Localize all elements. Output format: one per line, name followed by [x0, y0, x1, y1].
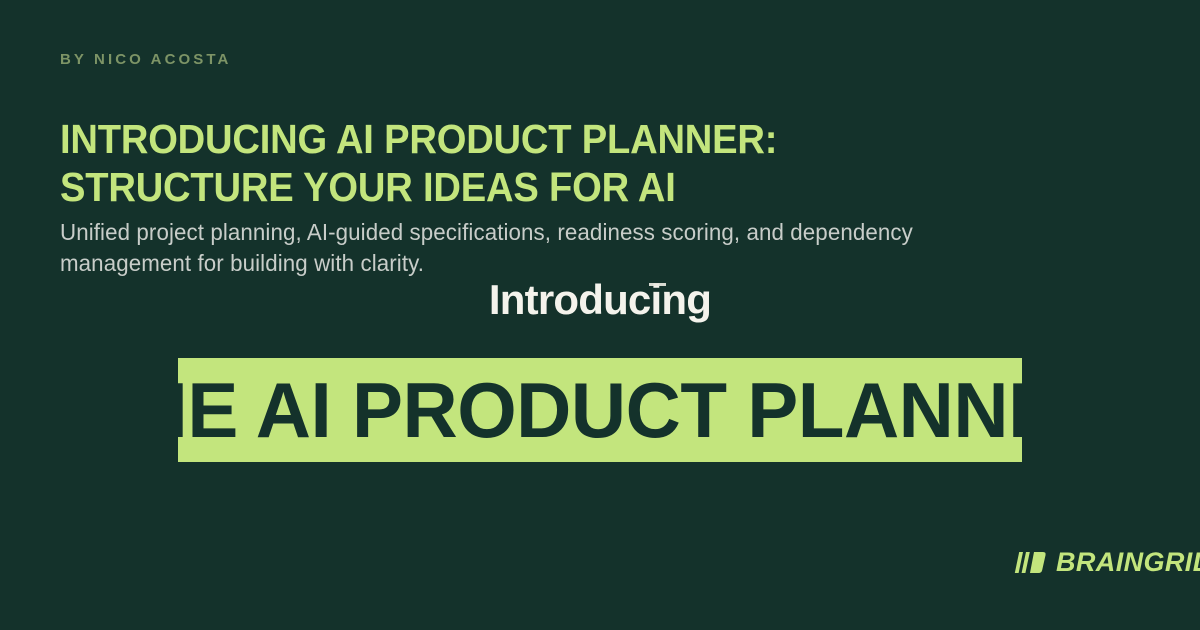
hero-section: Introducing	[0, 272, 1200, 328]
hero-eyebrow-label: Introducing	[489, 276, 711, 323]
hero-banner: THE AI PRODUCT PLANNER	[178, 358, 1022, 462]
hero-banner-label: THE AI PRODUCT PLANNER	[178, 370, 1022, 450]
braingrid-wordmark: BRAINGRID	[1056, 549, 1200, 576]
braingrid-logo-mark	[1013, 549, 1047, 576]
social-share-card: BY NICO ACOSTA INTRODUCING AI PRODUCT PL…	[0, 0, 1200, 630]
braingrid-logo: BRAINGRID	[1013, 549, 1200, 576]
hero-eyebrow: Introducing	[489, 272, 711, 328]
author-byline: BY NICO ACOSTA	[60, 50, 231, 70]
page-subtitle: Unified project planning, AI-guided spec…	[60, 217, 914, 279]
page-title: INTRODUCING AI PRODUCT PLANNER: STRUCTUR…	[60, 115, 990, 211]
glyph-artifact-bar	[649, 283, 666, 286]
